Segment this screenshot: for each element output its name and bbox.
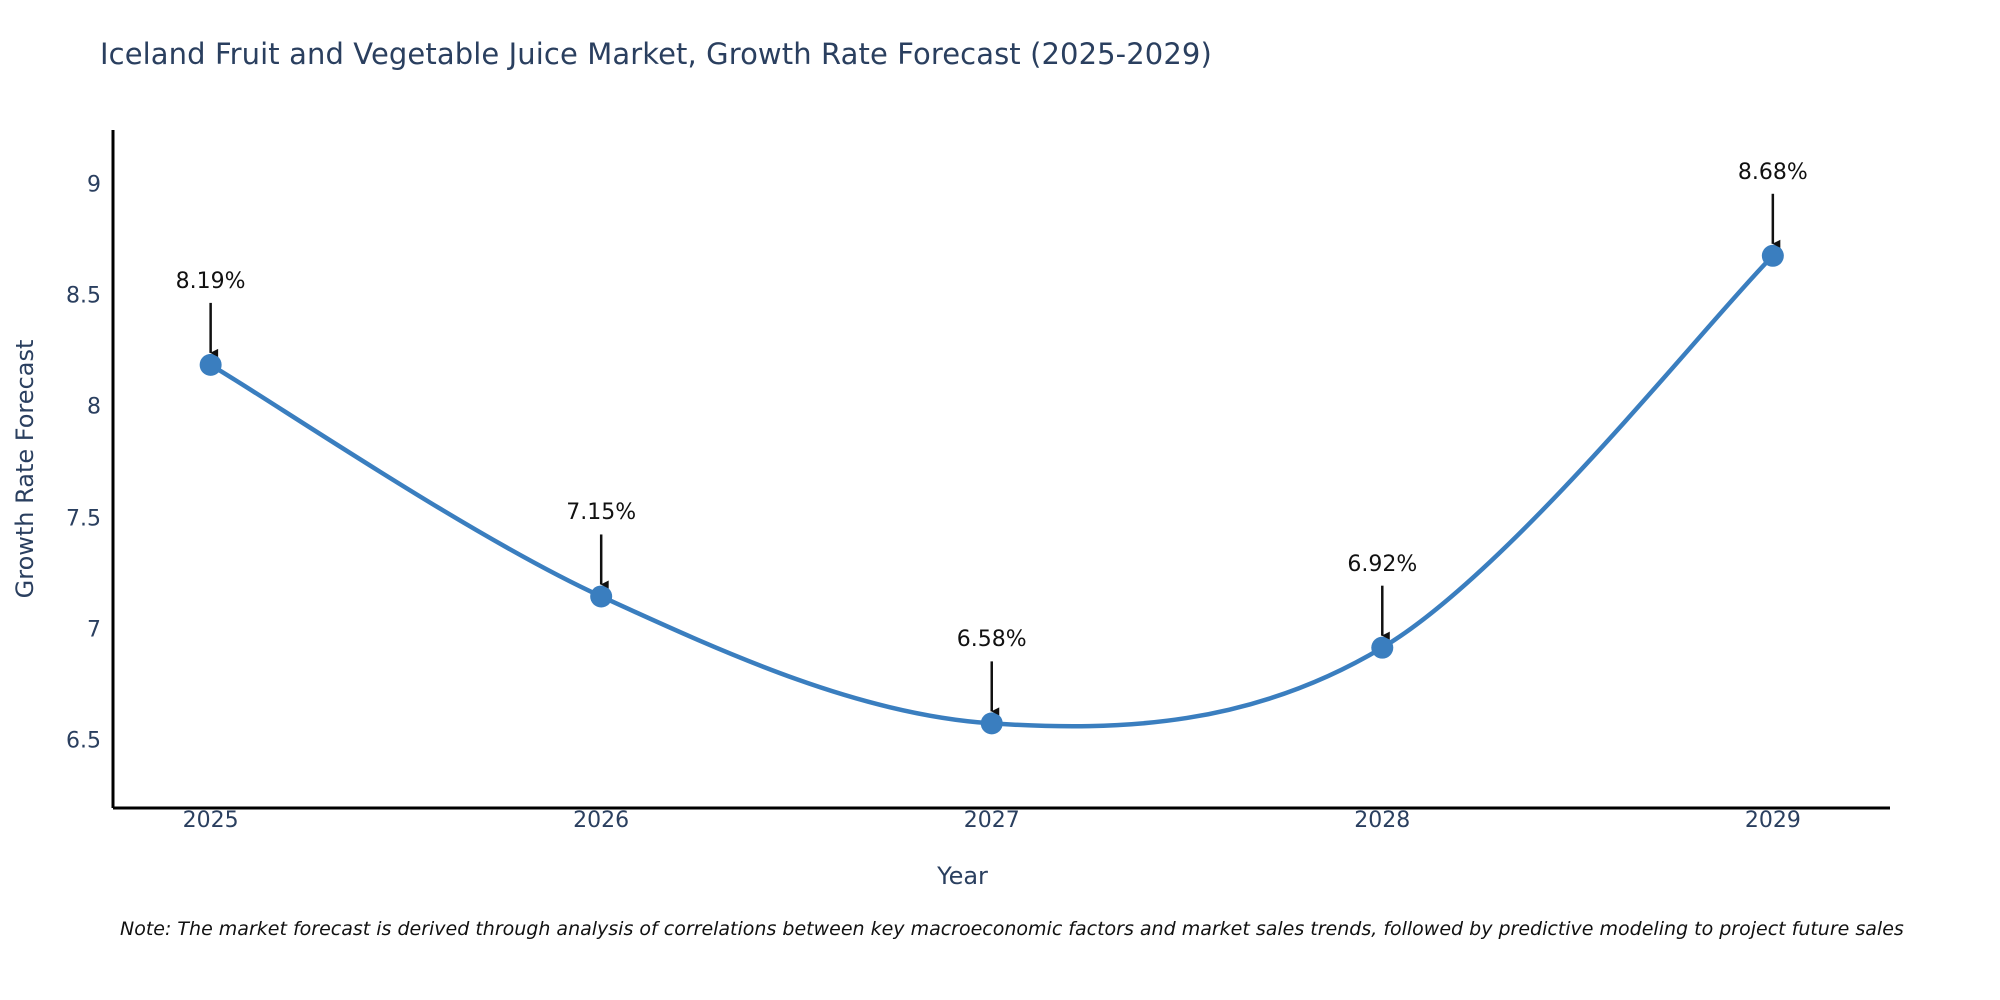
chart-figure: Iceland Fruit and Vegetable Juice Market… [0, 0, 2000, 1000]
data-series-line [211, 256, 1773, 726]
data-point-label: 8.19% [176, 269, 246, 294]
plot-area [0, 0, 2000, 1000]
data-point-marker[interactable] [590, 585, 612, 607]
data-point-markers [200, 245, 1784, 735]
data-point-marker[interactable] [981, 712, 1003, 734]
data-point-label: 6.92% [1347, 552, 1417, 577]
data-point-label: 6.58% [957, 627, 1027, 652]
data-point-label: 8.68% [1738, 160, 1808, 185]
data-point-marker[interactable] [1762, 245, 1784, 267]
data-point-marker[interactable] [200, 354, 222, 376]
chart-footnote: Note: The market forecast is derived thr… [120, 918, 1904, 940]
data-point-marker[interactable] [1371, 637, 1393, 659]
data-point-label: 7.15% [566, 500, 636, 525]
